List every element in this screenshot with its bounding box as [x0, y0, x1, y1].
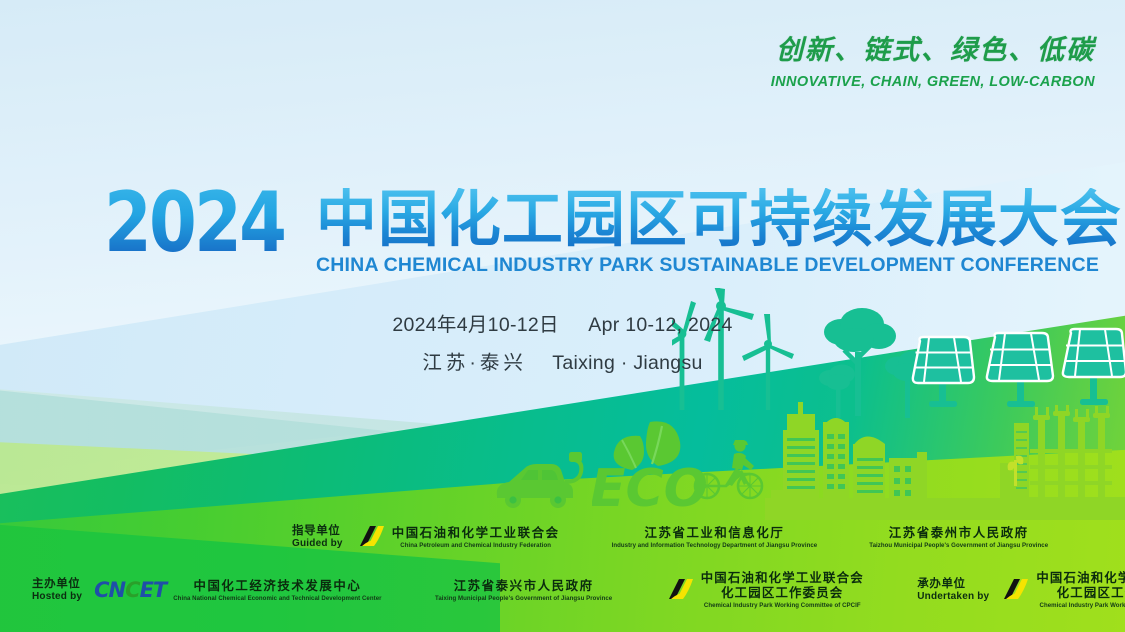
org-cipwc-first-chinese-line2: 化工园区工作委员会: [701, 586, 864, 601]
role-guided-by-chinese: 指导单位: [292, 524, 343, 538]
title-text-block: 中国化工园区可持续发展大会 CHINA CHEMICAL INDUSTRY PA…: [316, 188, 1122, 277]
main-title-block: 2024 中国化工园区可持续发展大会 CHINA CHEMICAL INDUST…: [104, 186, 1122, 277]
cncet-mark-part1: CN: [94, 578, 125, 602]
conference-banner: ECO: [0, 0, 1125, 632]
title-english: CHINA CHEMICAL INDUSTRY PARK SUSTAINABLE…: [316, 254, 1118, 277]
event-date-line: 2024年4月10-12日 Apr 10-12, 2024: [0, 308, 1125, 337]
org-jiangsu-iit: 江苏省工业和信息化厅 Industry and Information Tech…: [612, 526, 818, 549]
title-chinese: 中国化工园区可持续发展大会: [316, 188, 1122, 250]
org-cpcif-english: China Petroleum and Chemical Industry Fe…: [392, 542, 560, 549]
org-cipwc-second: 中国石油和化学工业联合会 化工园区工作委员会 Chemical Industry…: [1001, 571, 1125, 609]
cipwc-logo-icon: [666, 577, 694, 603]
cncet-mark-part2: C: [125, 578, 139, 602]
org-cncet-english: China National Chemical Economic and Tec…: [173, 595, 381, 602]
event-location-line: 江苏·泰兴 Taixing · Jiangsu: [0, 346, 1125, 375]
org-taizhou-gov-chinese: 江苏省泰州市人民政府: [869, 526, 1048, 541]
cncet-mark-part3: ET: [140, 578, 167, 602]
cipwc-logo-icon: [1001, 577, 1029, 603]
slogan-block: 创新、链式、绿色、低碳 INNOVATIVE, CHAIN, GREEN, LO…: [771, 28, 1095, 90]
org-cpcif-chinese: 中国石油和化学工业联合会: [392, 526, 560, 541]
org-cpcif: 中国石油和化学工业联合会 China Petroleum and Chemica…: [357, 524, 560, 550]
city-skyline: [765, 400, 1015, 525]
slogan-english: INNOVATIVE, CHAIN, GREEN, LOW-CARBON: [771, 74, 1095, 90]
cyclist-silhouette: [692, 440, 768, 507]
event-date-chinese: 2024年4月10-12日: [392, 314, 559, 336]
title-year: 2024: [104, 186, 284, 259]
org-cpcif-text: 中国石油和化学工业联合会 China Petroleum and Chemica…: [392, 526, 560, 549]
event-details-block: 2024年4月10-12日 Apr 10-12, 2024 江苏·泰兴 Taix…: [0, 308, 1125, 375]
org-taixing-gov-chinese: 江苏省泰兴市人民政府: [435, 579, 612, 594]
org-taixing-gov-text: 江苏省泰兴市人民政府 Taixing Municipal People's Go…: [435, 579, 612, 602]
org-cipwc-first-text: 中国石油和化学工业联合会 化工园区工作委员会 Chemical Industry…: [701, 571, 864, 609]
org-jiangsu-iit-chinese: 江苏省工业和信息化厅: [612, 526, 818, 541]
electric-car-silhouette: [495, 452, 600, 519]
hosted-undertaken-row: 主办单位 Hosted by CN C ET 中国化工经济技术发展中心 Chin…: [32, 566, 1125, 615]
role-undertaken-by-english: Undertaken by: [917, 591, 989, 604]
eco-text: ECO: [592, 459, 708, 510]
cpcif-logo-icon: [357, 524, 385, 550]
role-hosted-by-chinese: 主办单位: [32, 577, 82, 591]
org-cipwc-first-english: Chemical Industry Park Working Committee…: [701, 602, 864, 609]
role-undertaken-by-chinese: 承办单位: [917, 577, 989, 591]
event-location-english: Taixing · Jiangsu: [552, 352, 702, 374]
org-taizhou-gov-text: 江苏省泰州市人民政府 Taizhou Municipal People's Go…: [869, 526, 1048, 549]
org-cipwc-first-chinese-line1: 中国石油和化学工业联合会: [701, 571, 864, 586]
org-cncet-chinese: 中国化工经济技术发展中心: [173, 579, 381, 594]
org-cncet-text: 中国化工经济技术发展中心 China National Chemical Eco…: [173, 579, 381, 602]
role-undertaken-by: 承办单位 Undertaken by: [917, 577, 989, 604]
guided-by-row: 指导单位 Guided by 中国石油和化学工业联合会 China Petrol…: [292, 524, 1048, 551]
event-location-chinese: 江苏·泰兴: [422, 352, 527, 374]
org-taixing-gov: 江苏省泰兴市人民政府 Taixing Municipal People's Go…: [435, 579, 612, 602]
role-hosted-by-english: Hosted by: [32, 591, 82, 604]
role-guided-by: 指导单位 Guided by: [292, 524, 343, 551]
eco-logo-graphic: ECO: [592, 418, 712, 515]
cncet-wordmark: CN C ET: [94, 578, 166, 602]
org-taizhou-gov-english: Taizhou Municipal People's Government of…: [869, 542, 1048, 549]
org-cipwc-second-chinese-line2: 化工园区工作委员会: [1036, 586, 1125, 601]
org-cipwc-second-chinese-line1: 中国石油和化学工业联合会: [1036, 571, 1125, 586]
org-jiangsu-iit-english: Industry and Information Technology Depa…: [612, 542, 818, 549]
org-cncet: CN C ET 中国化工经济技术发展中心 China National Chem…: [94, 578, 381, 602]
role-guided-by-english: Guided by: [292, 538, 343, 551]
org-taixing-gov-english: Taixing Municipal People's Government of…: [435, 595, 612, 602]
org-jiangsu-iit-text: 江苏省工业和信息化厅 Industry and Information Tech…: [612, 526, 818, 549]
role-hosted-by: 主办单位 Hosted by: [32, 577, 82, 604]
event-date-english: Apr 10-12, 2024: [588, 314, 732, 336]
grass-sprout-icon: [1005, 452, 1027, 491]
slogan-chinese: 创新、链式、绿色、低碳: [771, 28, 1095, 67]
chemical-plant-silhouette: [1000, 405, 1125, 525]
org-cipwc-second-english: Chemical Industry Park Working Committee…: [1036, 602, 1125, 609]
org-cipwc-first: 中国石油和化学工业联合会 化工园区工作委员会 Chemical Industry…: [666, 571, 864, 609]
org-cipwc-second-text: 中国石油和化学工业联合会 化工园区工作委员会 Chemical Industry…: [1036, 571, 1125, 609]
org-taizhou-gov: 江苏省泰州市人民政府 Taizhou Municipal People's Go…: [869, 526, 1048, 549]
